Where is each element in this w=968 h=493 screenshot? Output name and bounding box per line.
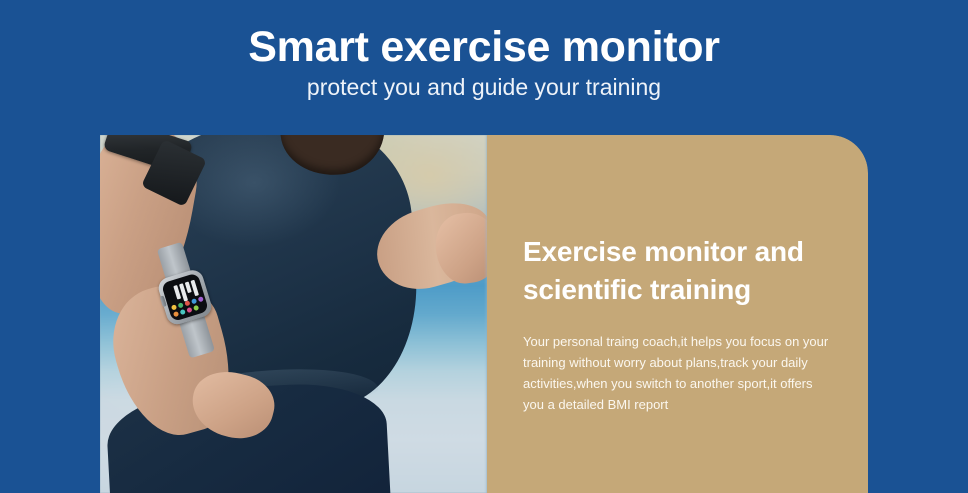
feature-card: Exercise monitor and scientific training… (100, 135, 868, 493)
page-header: Smart exercise monitor protect you and g… (0, 0, 968, 102)
runner-photo (100, 135, 487, 493)
info-panel: Exercise monitor and scientific training… (487, 135, 868, 493)
info-panel-heading: Exercise monitor and scientific training (523, 233, 833, 309)
runner-figure (100, 135, 487, 493)
watch-screen (161, 273, 209, 322)
page-subtitle: protect you and guide your training (0, 73, 968, 102)
info-panel-description: Your personal traing coach,it helps you … (523, 331, 834, 415)
page-title: Smart exercise monitor (0, 24, 968, 70)
